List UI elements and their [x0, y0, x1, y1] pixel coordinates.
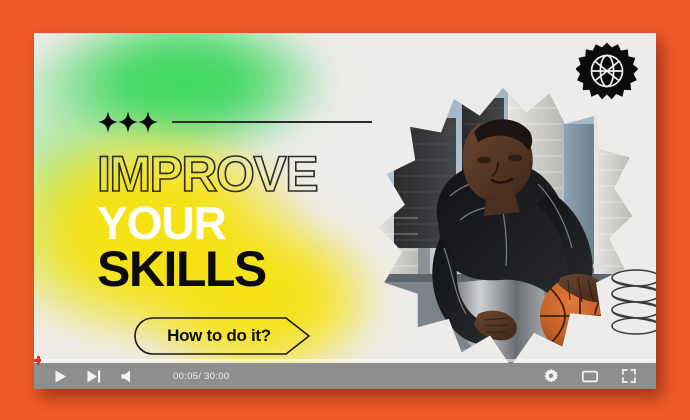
- gear-icon: [544, 369, 558, 383]
- horizontal-rule: [172, 121, 372, 122]
- theater-mode-icon: [582, 370, 598, 383]
- next-track-button[interactable]: [81, 363, 107, 389]
- player-right-controls: [538, 363, 642, 389]
- fullscreen-icon: [622, 369, 636, 383]
- video-player-bar: 00:05/ 30:00: [34, 363, 656, 389]
- cta-button-shape: [134, 317, 314, 355]
- video-card: IMPROVE YOUR SKILLS How to do it?: [34, 33, 656, 389]
- theater-mode-button[interactable]: [576, 363, 604, 389]
- headline-line-your: YOUR: [97, 202, 417, 244]
- four-point-star-icon: [98, 111, 118, 133]
- cta-button[interactable]: How to do it?: [134, 317, 314, 355]
- hero-headline: IMPROVE YOUR SKILLS: [97, 151, 417, 292]
- four-point-star-icon: [138, 111, 158, 133]
- video-thumbnail-canvas: IMPROVE YOUR SKILLS How to do it?: [0, 0, 690, 420]
- settings-button[interactable]: [538, 363, 564, 389]
- headline-line-improve: IMPROVE: [97, 151, 417, 197]
- volume-icon: [121, 370, 135, 383]
- globe-badge-icon: [576, 41, 638, 108]
- progress-bar-track[interactable]: [34, 359, 656, 362]
- top-decoration-row: [98, 111, 372, 133]
- next-track-icon: [87, 370, 101, 383]
- four-point-star-icon: [118, 111, 138, 133]
- player-left-controls: 00:05/ 30:00: [48, 363, 229, 389]
- volume-button[interactable]: [115, 363, 141, 389]
- play-button[interactable]: [48, 363, 73, 389]
- spiral-coil-artwork: [606, 268, 656, 342]
- globe-badge-artwork: [576, 41, 638, 103]
- time-display: 00:05/ 30:00: [173, 371, 229, 382]
- fullscreen-button[interactable]: [616, 363, 642, 389]
- headline-line-skills: SKILLS: [97, 246, 417, 292]
- play-icon: [54, 370, 67, 383]
- progress-bar-knob[interactable]: [37, 356, 40, 365]
- spiral-coil-icon: [606, 268, 656, 347]
